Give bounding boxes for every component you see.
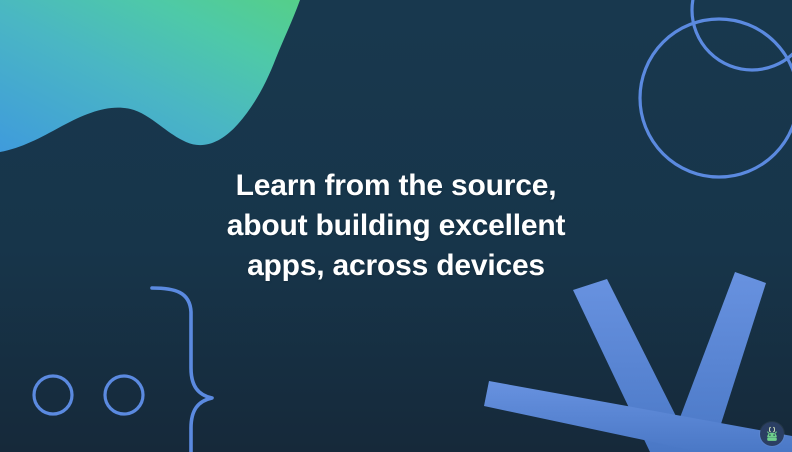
title-slide: Learn from the source, about building ex…: [0, 0, 792, 452]
android-developers-logo: Android Developers: [760, 422, 784, 446]
background-artwork: [0, 0, 792, 452]
android-robot-icon: [762, 424, 782, 444]
